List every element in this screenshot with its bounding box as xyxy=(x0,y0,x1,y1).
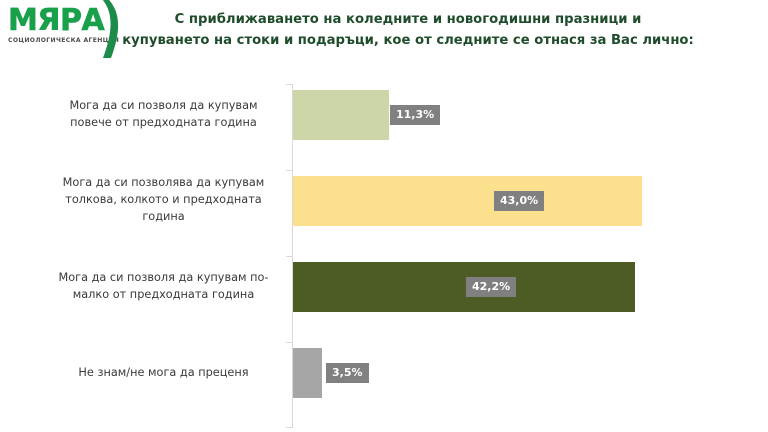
bar-category-label: Мога да си позволя да купувам повече от … xyxy=(41,97,286,131)
bar-row: Мога да си позволя да купувам повече от … xyxy=(0,68,768,154)
bar-row: Не знам/не мога да преценя 3,5% xyxy=(0,326,768,412)
bar-value-label: 11,3% xyxy=(390,105,440,125)
bar-segment[interactable] xyxy=(293,348,322,398)
bar-category-label-line: година xyxy=(41,208,286,225)
bar-chart: Мога да си позволя да купувам повече от … xyxy=(0,68,768,432)
page-title-line-1: С приближаването на коледните и новогоди… xyxy=(108,9,708,30)
bar-value-label: 3,5% xyxy=(326,363,369,383)
bar-category-label-line: малко от предходната година xyxy=(41,286,286,303)
plot-area: Мога да си позволя да купувам повече от … xyxy=(0,68,768,432)
bar-category-label: Мога да си позволява да купувам толкова,… xyxy=(41,174,286,225)
page-title: С приближаването на коледните и новогоди… xyxy=(108,9,708,51)
bar-category-label-line: Не знам/не мога да преценя xyxy=(41,364,286,381)
bar-row: Мога да си позволява да купувам толкова,… xyxy=(0,154,768,240)
bar-category-label-line: толкова, колкото и предходната xyxy=(41,191,286,208)
bar-segment[interactable] xyxy=(293,90,389,140)
slide-header: МЯРА СОЦИОЛОГИЧЕСКА АГЕНЦИЯ С приближава… xyxy=(0,0,768,68)
bar-category-label-line: Мога да си позволя да купувам по- xyxy=(41,269,286,286)
bar-row: Мога да си позволя да купувам по- малко … xyxy=(0,240,768,326)
bar-value-label: 43,0% xyxy=(494,191,544,211)
bar-category-label: Мога да си позволя да купувам по- малко … xyxy=(41,269,286,303)
bar-segment[interactable] xyxy=(293,176,642,226)
bar-segment[interactable] xyxy=(293,262,635,312)
page-title-line-2: купуването на стоки и подаръци, кое от с… xyxy=(108,30,708,51)
bar-value-label: 42,2% xyxy=(466,277,516,297)
bar-category-label-line: повече от предходната година xyxy=(41,114,286,131)
bar-category-label-line: Мога да си позволява да купувам xyxy=(41,174,286,191)
bar-category-label-line: Мога да си позволя да купувам xyxy=(41,97,286,114)
bar-category-label: Не знам/не мога да преценя xyxy=(41,364,286,381)
